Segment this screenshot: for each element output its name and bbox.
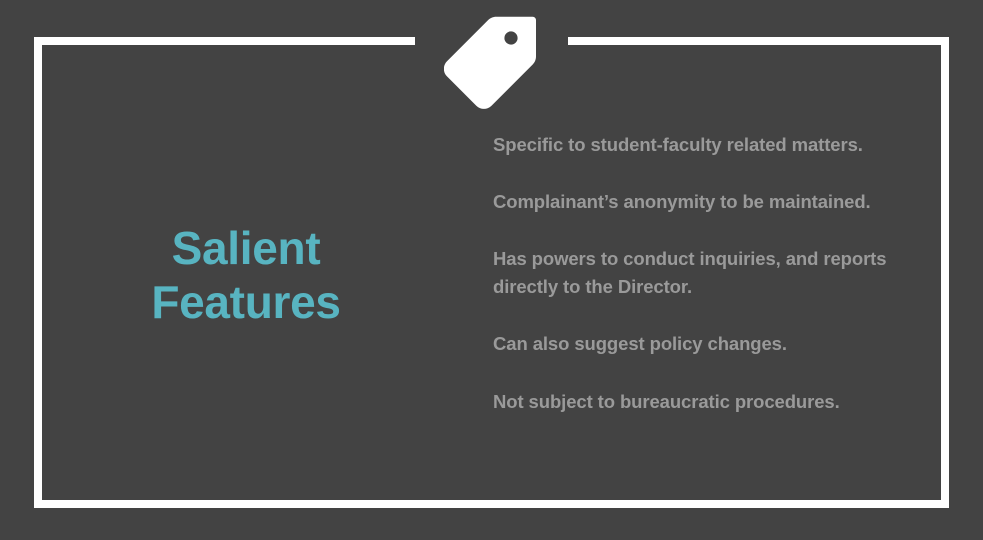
- page-title-line-2: Features: [60, 276, 432, 330]
- frame-border-top-right: [568, 37, 949, 45]
- list-item: Has powers to conduct inquiries, and rep…: [493, 245, 923, 301]
- frame-border-top-left: [34, 37, 415, 45]
- list-item: Complainant’s anonymity to be maintained…: [493, 188, 923, 216]
- frame-border-bottom: [34, 500, 949, 508]
- list-item: Specific to student-faculty related matt…: [493, 131, 923, 159]
- page-title-line-1: Salient: [60, 222, 432, 276]
- page-title: Salient Features: [60, 222, 432, 330]
- feature-list: Specific to student-faculty related matt…: [493, 131, 923, 416]
- list-item: Not subject to bureaucratic procedures.: [493, 388, 923, 416]
- frame-border-right: [941, 37, 949, 508]
- tag-icon: [444, 12, 540, 110]
- slide-canvas: Salient Features Specific to student-fac…: [0, 0, 983, 540]
- frame-border-left: [34, 37, 42, 508]
- list-item: Can also suggest policy changes.: [493, 330, 923, 358]
